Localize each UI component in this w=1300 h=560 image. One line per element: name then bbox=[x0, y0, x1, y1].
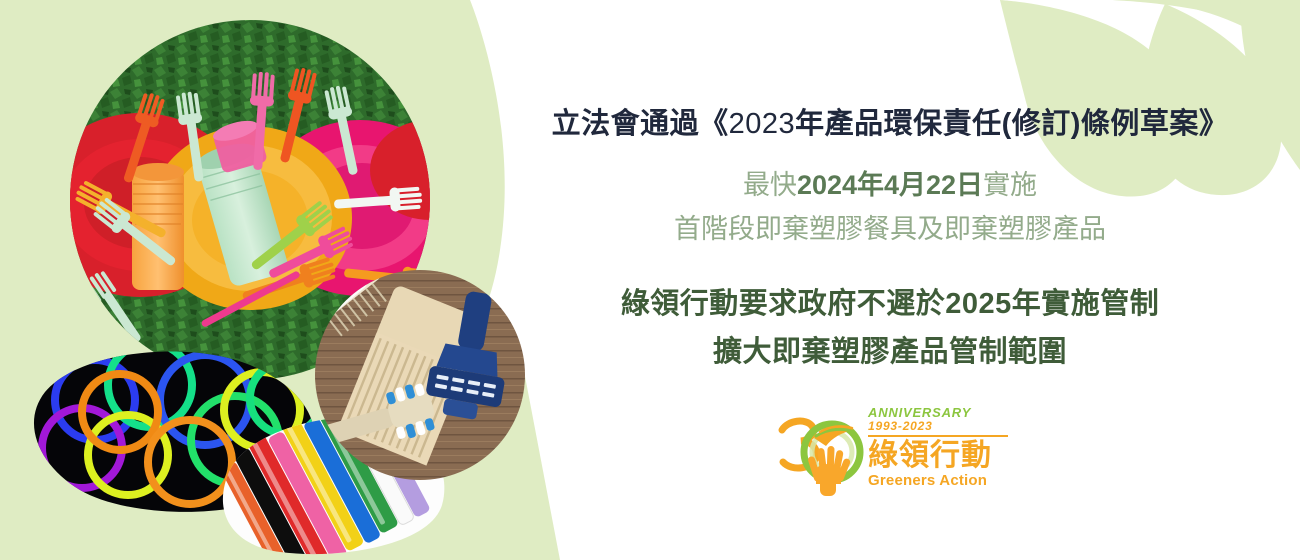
logo-divider bbox=[868, 435, 1008, 437]
org-name-zh: 綠領行動 bbox=[868, 440, 1013, 472]
demand-line-2: 擴大即棄塑膠產品管制範圍 bbox=[500, 328, 1280, 370]
campaign-banner: 立法會通過《2023年產品環保責任(修訂)條例草案》 最快2024年4月22日實… bbox=[0, 0, 1300, 560]
anniversary-label: ANNIVERSARY bbox=[868, 406, 1013, 420]
demand-line-1: 綠領行動要求政府不遲於2025年實施管制 bbox=[500, 280, 1280, 322]
page-title: 立法會通過《2023年產品環保責任(修訂)條例草案》 bbox=[500, 100, 1280, 142]
org-name-en: Greeners Action bbox=[868, 472, 1013, 489]
subheadline-line-2: 首階段即棄塑膠餐具及即棄塑膠產品 bbox=[500, 207, 1280, 246]
logo-wordmark: ANNIVERSARY 1993-2023 綠領行動 Greeners Acti… bbox=[868, 406, 1013, 489]
text-content: 立法會通過《2023年產品環保責任(修訂)條例草案》 最快2024年4月22日實… bbox=[500, 0, 1300, 560]
headline-year: 2023 bbox=[729, 108, 796, 140]
headline-prefix: 立法會通過《 bbox=[552, 108, 729, 140]
organisation-logo: ANNIVERSARY 1993-2023 綠領行動 Greeners Acti… bbox=[770, 400, 1010, 510]
photo-collage bbox=[0, 0, 560, 560]
subheadline-line-1: 最快2024年4月22日實施 bbox=[500, 163, 1280, 202]
anniversary-years: 1993-2023 bbox=[868, 420, 1013, 433]
effective-date: 2024年4月22日 bbox=[797, 170, 983, 200]
sub1-suffix: 實施 bbox=[983, 170, 1037, 200]
sub1-prefix: 最快 bbox=[743, 170, 797, 200]
anniversary-30-icon bbox=[770, 404, 870, 504]
headline-suffix: 年產品環保責任(修訂)條例草案》 bbox=[795, 108, 1228, 140]
